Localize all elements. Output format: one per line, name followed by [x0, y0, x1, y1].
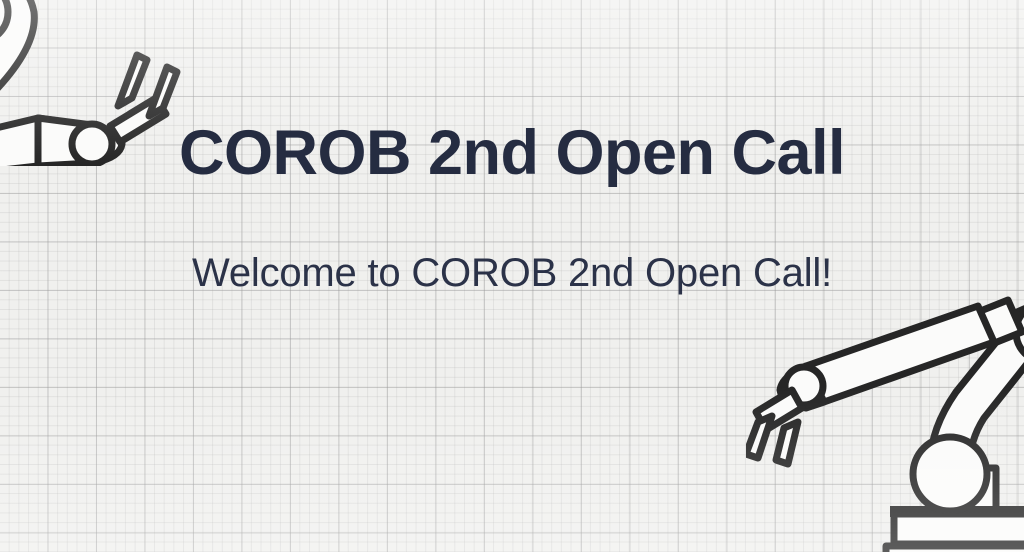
industrial-robot-arm-icon [746, 262, 1024, 552]
page-title: COROB 2nd Open Call [0, 122, 1024, 185]
landing-page: COROB 2nd Open Call Welcome to COROB 2nd… [0, 0, 1024, 552]
page-subtitle: Welcome to COROB 2nd Open Call! [0, 253, 1024, 293]
